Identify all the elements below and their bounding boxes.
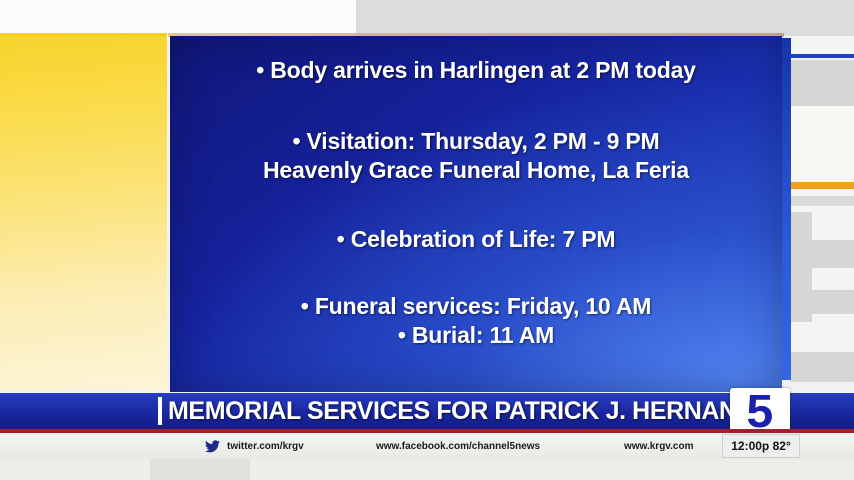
graphic-line-2: • Visitation: Thursday, 2 PM - 9 PM (293, 127, 660, 156)
headline-text: MEMORIAL SERVICES FOR PATRICK J. HERNAND… (168, 394, 786, 428)
time-temperature-box: 12:00p 82° (722, 434, 800, 458)
facebook-url-item: www.facebook.com/channel5news (376, 433, 540, 459)
studio-block-c (790, 212, 812, 322)
website-url-item: www.krgv.com (624, 433, 693, 459)
twitter-handle-item: twitter.com/krgv (205, 433, 304, 459)
twitter-bird-icon (205, 440, 220, 453)
studio-block-f (790, 352, 854, 382)
studio-block-a (790, 60, 854, 106)
studio-block-d (812, 240, 854, 268)
studio-block-e (812, 290, 854, 314)
banner-accent-tick (158, 397, 162, 425)
graphic-line-1: • Body arrives in Harlingen at 2 PM toda… (256, 56, 696, 85)
studio-block-b (790, 196, 854, 206)
studio-blue-rule (790, 54, 854, 58)
graphic-line-6: • Burial: 11 AM (398, 321, 554, 350)
studio-blue-edge (782, 38, 791, 380)
info-graphic-panel: • Body arrives in Harlingen at 2 PM toda… (170, 36, 782, 392)
graphic-line-5: • Funeral services: Friday, 10 AM (301, 292, 651, 321)
graphic-line-3: Heavenly Grace Funeral Home, La Feria (263, 156, 689, 185)
studio-panel-white (790, 106, 854, 182)
time-temperature-text: 12:00p 82° (731, 439, 791, 453)
twitter-handle-text: twitter.com/krgv (227, 441, 304, 452)
website-url-text: www.krgv.com (624, 441, 693, 452)
broadcast-screenshot: • Body arrives in Harlingen at 2 PM toda… (0, 0, 854, 480)
facebook-url-text: www.facebook.com/channel5news (376, 441, 540, 452)
ticker-bottom-filler (0, 459, 854, 480)
station-logo-numeral: 5 (747, 390, 774, 432)
ticker-bottom-block (150, 459, 250, 480)
station-logo: 5 (730, 388, 790, 434)
graphic-line-4: • Celebration of Life: 7 PM (337, 225, 616, 254)
info-graphic-lines: • Body arrives in Harlingen at 2 PM toda… (170, 36, 782, 392)
studio-orange-stripe (790, 182, 854, 189)
yellow-panel-top-rule (0, 33, 167, 36)
studio-backdrop-top (356, 0, 854, 36)
yellow-accent-panel (0, 33, 167, 390)
